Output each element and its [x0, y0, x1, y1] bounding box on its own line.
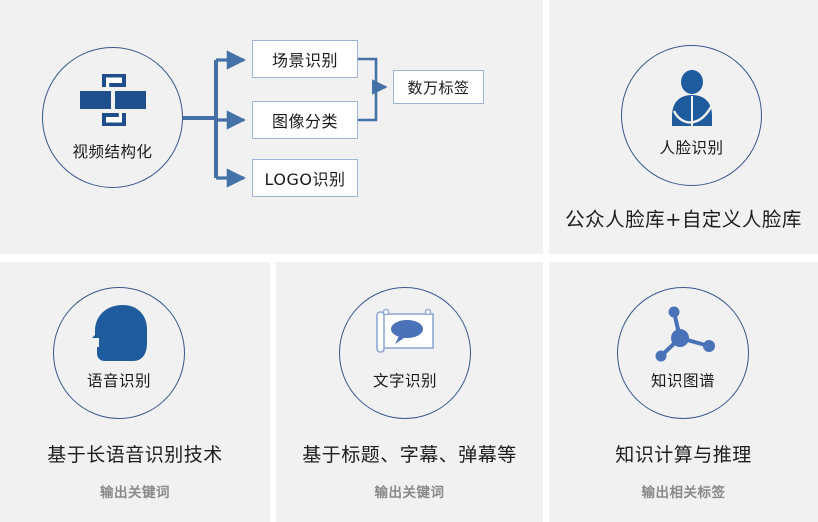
flow-box-logo-recognition[interactable]: LOGO识别	[252, 159, 358, 197]
panel-speech-recognition: 语音识别 基于长语音识别技术 输出关键词	[0, 262, 270, 522]
caption-speech-sub: 输出关键词	[0, 481, 270, 501]
caption-ocr-main: 基于标题、字幕、弹幕等	[276, 440, 543, 467]
node-graph-icon	[618, 304, 748, 366]
circle-speech-recognition: 语音识别	[53, 287, 185, 419]
caption-speech-main: 基于长语音识别技术	[0, 440, 270, 467]
panel-face-recognition: 人脸识别 公众人脸库+自定义人脸库	[549, 0, 818, 254]
circle-label-face: 人脸识别	[622, 136, 761, 158]
flow-box-scene-recognition[interactable]: 场景识别	[252, 40, 358, 78]
panel-text-recognition: 文字识别 基于标题、字幕、弹幕等 输出关键词	[276, 262, 543, 522]
banner-speech-bubble-icon	[340, 308, 470, 356]
circle-text-recognition: 文字识别	[339, 287, 471, 419]
video-structure-icon	[43, 74, 182, 126]
circle-label-video: 视频结构化	[43, 140, 182, 162]
caption-kg-sub: 输出相关标签	[549, 481, 818, 501]
circle-knowledge-graph: 知识图谱	[617, 287, 749, 419]
caption-face-main: 公众人脸库+自定义人脸库	[549, 203, 818, 232]
infographic-root: 视频结构化 场景识别 图像分类 LOGO识别 数万标签 人脸识别 公众人脸库+自…	[0, 0, 818, 522]
circle-video-structuring: 视频结构化	[42, 47, 183, 188]
panel-knowledge-graph: 知识图谱 知识计算与推理 输出相关标签	[549, 262, 818, 522]
circle-label-kg: 知识图谱	[618, 369, 748, 391]
caption-ocr-sub: 输出关键词	[276, 481, 543, 501]
circle-label-ocr: 文字识别	[340, 369, 470, 391]
flow-box-tens-of-thousands-tags[interactable]: 数万标签	[393, 70, 484, 104]
flow-box-image-classification[interactable]: 图像分类	[252, 101, 358, 139]
circle-face-recognition: 人脸识别	[621, 45, 762, 186]
panel-video-structuring: 视频结构化 场景识别 图像分类 LOGO识别 数万标签	[0, 0, 543, 254]
person-scan-icon	[622, 70, 761, 130]
speaking-head-icon	[54, 305, 184, 362]
circle-label-speech: 语音识别	[54, 369, 184, 391]
caption-kg-main: 知识计算与推理	[549, 440, 818, 467]
